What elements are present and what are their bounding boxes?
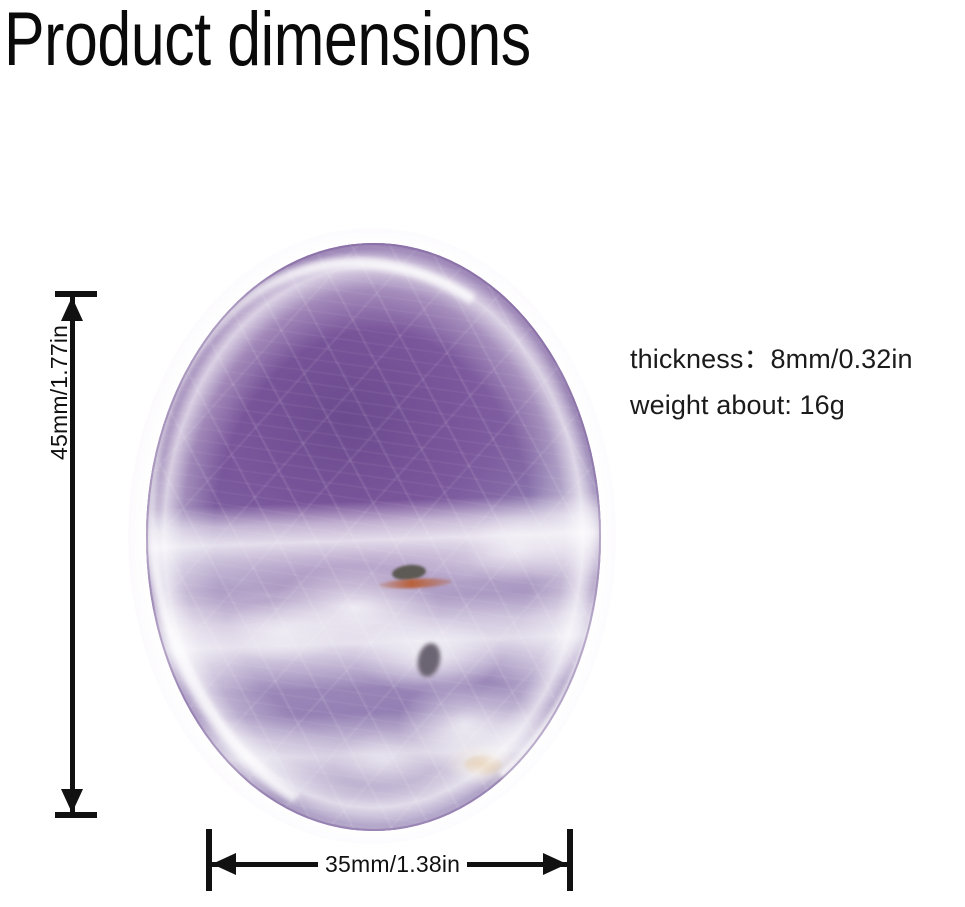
- product-image: [128, 228, 616, 844]
- arrow-left-icon: [212, 853, 236, 875]
- stone-edge-outline: [146, 243, 601, 831]
- page-title: Product dimensions: [4, 0, 531, 86]
- width-dimension-label: 35mm/1.38in: [318, 851, 467, 878]
- height-dimension-label: 45mm/1.77in: [46, 325, 73, 460]
- spec-list: thickness：8mm/0.32in weight about: 16g: [630, 336, 960, 428]
- spec-thickness: thickness：8mm/0.32in: [630, 336, 960, 382]
- arrow-right-icon: [543, 853, 567, 875]
- arrow-up-icon: [61, 297, 83, 321]
- arrow-down-icon: [61, 789, 83, 813]
- spec-weight: weight about: 16g: [630, 382, 960, 428]
- width-dimension-cap-right: [567, 829, 573, 891]
- amethyst-stone: [146, 243, 601, 831]
